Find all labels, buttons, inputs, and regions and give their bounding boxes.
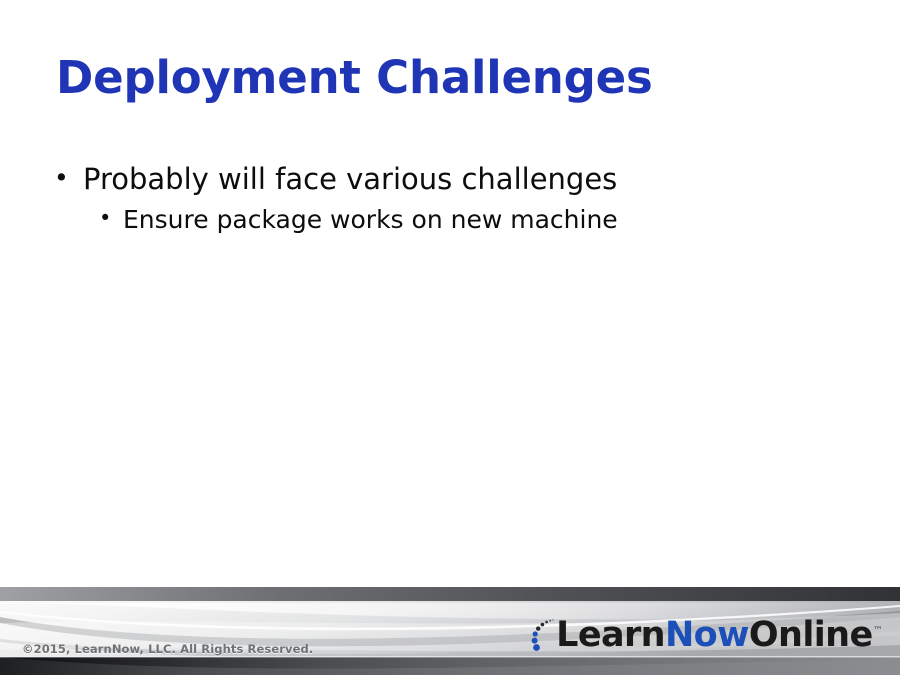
bullet-item-level1: • Probably will face various challenges [0,160,900,199]
slide-body: • Probably will face various challenges … [0,160,900,236]
bullet-text: Probably will face various challenges [83,160,900,199]
slide-title: Deployment Challenges [56,52,856,104]
copyright-text: ©2015, LearnNow, LLC. All Rights Reserve… [22,642,313,656]
bullet-marker-icon: • [99,203,123,235]
bullet-marker-icon: • [54,160,83,196]
bullet-item-level2: • Ensure package works on new machine [0,203,900,237]
logo-trademark-symbol: ™ [873,625,882,636]
presentation-slide: Deployment Challenges • Probably will fa… [0,0,900,675]
logo-word-now: Now [665,615,749,655]
learnnowonline-logo: LearnNowOnline™ [529,613,882,657]
logo-word-online: Online [749,615,873,655]
logo-swirl-dots-icon [529,613,555,657]
logo-word-learn: Learn [556,615,665,655]
bullet-text: Ensure package works on new machine [123,203,900,237]
logo-wordmark: LearnNowOnline™ [556,618,882,653]
